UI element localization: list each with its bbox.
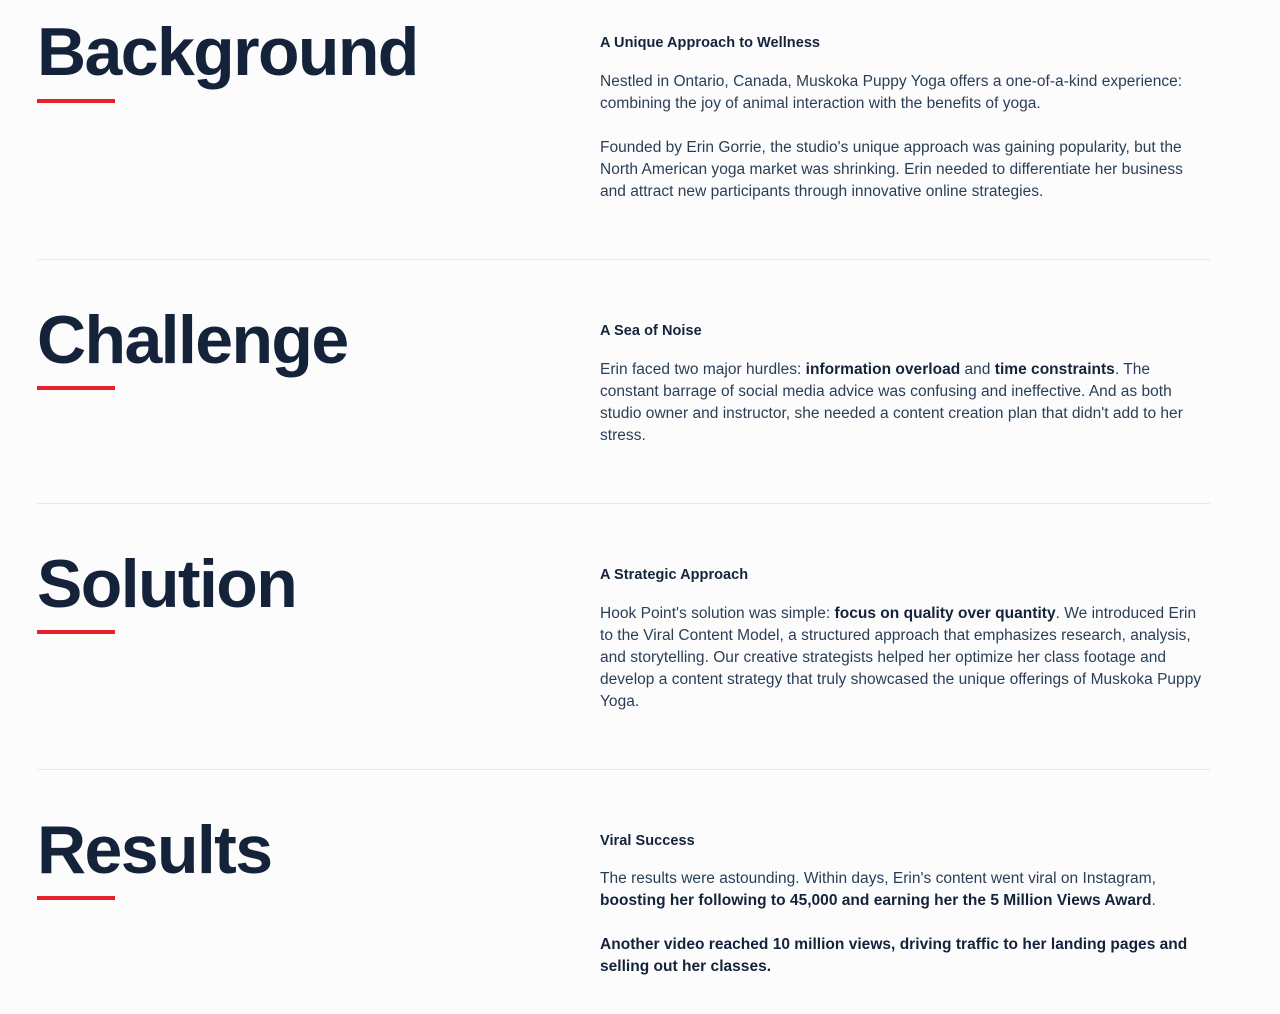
body-paragraph: Founded by Erin Gorrie, the studio's uni… bbox=[600, 137, 1210, 203]
heading-accent-rule bbox=[37, 386, 115, 390]
heading-accent-rule bbox=[37, 99, 115, 103]
divider-spacer bbox=[0, 203, 1280, 259]
heading-accent-rule bbox=[37, 896, 115, 900]
section-background: Background A Unique Approach to Wellness… bbox=[0, 0, 1280, 203]
section-body-column: Viral Success The results were astoundin… bbox=[600, 818, 1210, 979]
page-title: Challenge bbox=[37, 308, 600, 373]
divider-spacer bbox=[0, 447, 1280, 503]
page-title: Results bbox=[37, 818, 600, 883]
section-heading-column: Background bbox=[37, 20, 600, 103]
section-results: Results Viral Success The results were a… bbox=[0, 770, 1280, 979]
body-paragraph: Hook Point's solution was simple: focus … bbox=[600, 603, 1210, 713]
body-paragraph: Another video reached 10 million views, … bbox=[600, 934, 1210, 978]
page-title: Solution bbox=[37, 552, 600, 617]
section-heading-column: Solution bbox=[37, 552, 600, 635]
section-subheading: Viral Success bbox=[600, 832, 1210, 851]
section-challenge: Challenge A Sea of Noise Erin faced two … bbox=[0, 260, 1280, 447]
section-body-column: A Unique Approach to Wellness Nestled in… bbox=[600, 20, 1210, 203]
section-heading-column: Challenge bbox=[37, 308, 600, 391]
body-paragraph: Nestled in Ontario, Canada, Muskoka Pupp… bbox=[600, 71, 1210, 115]
body-paragraph: Erin faced two major hurdles: informatio… bbox=[600, 359, 1210, 447]
divider-spacer bbox=[0, 713, 1280, 769]
section-solution: Solution A Strategic Approach Hook Point… bbox=[0, 504, 1280, 713]
section-heading-column: Results bbox=[37, 818, 600, 901]
body-paragraph: The results were astounding. Within days… bbox=[600, 868, 1210, 912]
heading-accent-rule bbox=[37, 630, 115, 634]
section-subheading: A Unique Approach to Wellness bbox=[600, 34, 1210, 53]
section-subheading: A Strategic Approach bbox=[600, 566, 1210, 585]
page-title: Background bbox=[37, 20, 600, 85]
case-study-article: Background A Unique Approach to Wellness… bbox=[0, 0, 1280, 978]
section-body-column: A Sea of Noise Erin faced two major hurd… bbox=[600, 308, 1210, 447]
section-subheading: A Sea of Noise bbox=[600, 322, 1210, 341]
section-body-column: A Strategic Approach Hook Point's soluti… bbox=[600, 552, 1210, 713]
